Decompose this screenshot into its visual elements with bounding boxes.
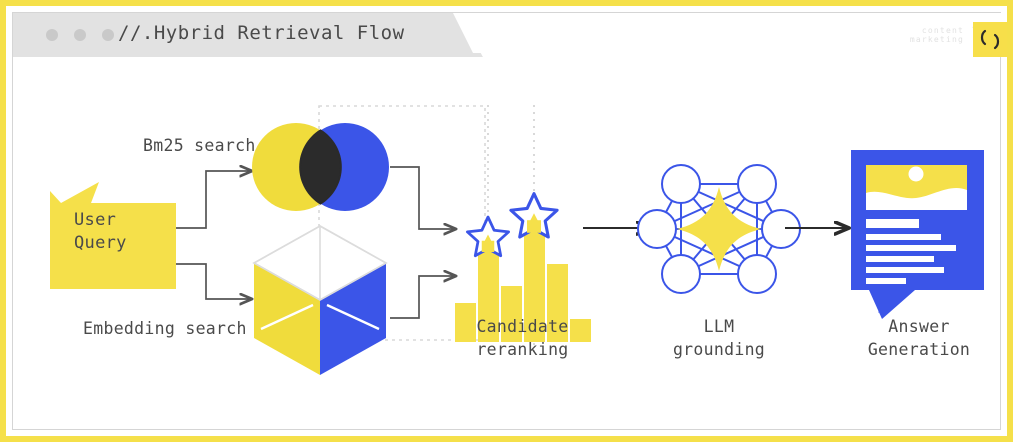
llm-network-icon[interactable]	[638, 165, 800, 293]
diagram-frame: //.Hybrid Retrieval Flow + content marke…	[0, 0, 1013, 442]
page-title: //.Hybrid Retrieval Flow	[118, 22, 405, 44]
answer-image-sun	[909, 167, 924, 182]
arrow-bm25-to-reranking	[390, 167, 456, 229]
reranking-line-1: Candidate	[476, 317, 568, 336]
llm-line-2: grounding	[673, 340, 765, 359]
star-icon-bar-2	[467, 217, 508, 256]
venn-diagram-icon[interactable]	[252, 123, 389, 211]
arrow-query-to-embedding	[176, 264, 252, 299]
llm-line-1: LLM	[704, 317, 735, 336]
star-icon-bar-4	[511, 194, 557, 237]
user-query-line-2: Query	[74, 233, 127, 253]
isometric-cube-icon[interactable]	[254, 226, 386, 375]
diagram-canvas: User Query Bm25 search Embedding search …	[13, 57, 1012, 440]
reranking-line-2: reranking	[476, 340, 568, 359]
window-titlebar: //.Hybrid Retrieval Flow + content marke…	[13, 13, 1012, 57]
llm-grounding-label: LLM grounding	[643, 315, 795, 361]
answer-line-1: Answer	[888, 317, 949, 336]
window-dot-1[interactable]	[46, 29, 58, 41]
user-query-line-1: User	[74, 210, 116, 230]
embedding-search-label: Embedding search	[83, 317, 247, 340]
bm25-search-label: Bm25 search	[143, 134, 256, 157]
answer-document-icon[interactable]	[851, 150, 984, 319]
user-query-label: User Query	[50, 209, 176, 255]
answer-line-2: Generation	[868, 340, 970, 359]
arrow-embedding-to-reranking	[390, 276, 456, 318]
brand-line-1: content	[910, 26, 964, 35]
candidate-reranking-label: Candidate reranking	[445, 315, 600, 361]
brand-wordmark: content marketing	[910, 26, 964, 44]
arrow-query-to-bm25	[176, 171, 252, 228]
swoosh-logo-icon[interactable]	[973, 22, 1007, 57]
window-dots	[46, 29, 114, 41]
answer-generation-label: Answer Generation	[839, 315, 999, 361]
window-dot-3[interactable]	[102, 29, 114, 41]
window-dot-2[interactable]	[74, 29, 86, 41]
brand-line-2: marketing	[910, 35, 964, 44]
